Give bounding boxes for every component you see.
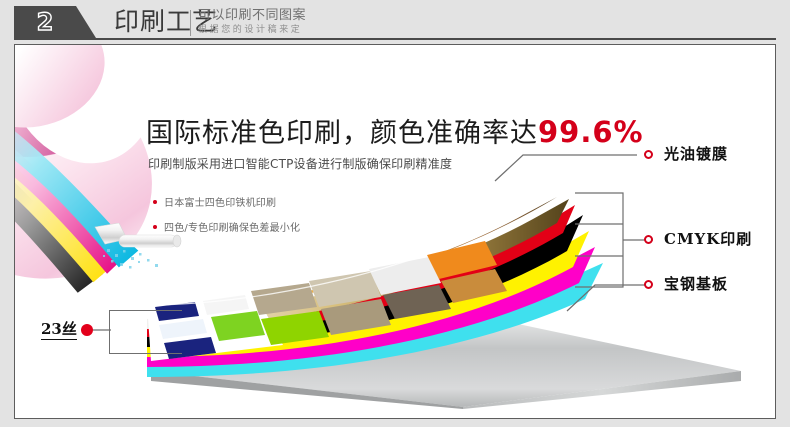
marker-thickness-icon (81, 324, 93, 336)
callout-label-cmyk: CMYK印刷 (664, 231, 752, 248)
headline-text: 国际标准色印刷，颜色准确率达 (146, 118, 538, 149)
callout-label-thickness: 23丝 (41, 321, 77, 340)
bullet-dot-icon (153, 200, 157, 204)
section-number-badge: 2 (14, 6, 76, 38)
callout-box-thickness (109, 310, 182, 354)
header-subtitle-small: 根据您的设计稿来定 (198, 25, 302, 36)
badge-wedge-shape (76, 6, 96, 38)
section-number: 2 (14, 8, 76, 36)
marker-steelbase-icon (644, 280, 653, 289)
marker-cmyk-icon (644, 235, 653, 244)
callout-leader-steelbase (563, 263, 653, 313)
page-root: 2 印刷工艺 可以印刷不同图案 根据您的设计稿来定 (0, 0, 790, 427)
callout-label-steelbase: 宝钢基板 (664, 276, 728, 293)
page-subheadline: 印刷制版采用进口智能CTP设备进行制版确保印刷精准度 (148, 157, 452, 172)
feature-bullet-0-label: 日本富士四色印铁机印刷 (164, 198, 276, 209)
callout-label-varnish: 光油镀膜 (664, 146, 728, 163)
marker-varnish-icon (644, 150, 653, 159)
callout-leader-varnish (485, 123, 645, 183)
illustration-canvas: 国际标准色印刷，颜色准确率达99.6% 印刷制版采用进口智能CTP设备进行制版确… (14, 44, 776, 419)
feature-bullet-1-label: 四色/专色印刷确保色差最小化 (164, 223, 300, 234)
feature-bullet-1: 四色/专色印刷确保色差最小化 (153, 222, 300, 235)
header-divider (190, 10, 191, 36)
bullet-dot-icon (153, 225, 157, 229)
feature-bullet-0: 日本富士四色印铁机印刷 (153, 197, 276, 210)
section-header: 2 印刷工艺 可以印刷不同图案 根据您的设计稿来定 (14, 6, 776, 40)
header-subtitle-main: 可以印刷不同图案 (198, 8, 306, 23)
callout-leader-thickness (93, 323, 113, 337)
